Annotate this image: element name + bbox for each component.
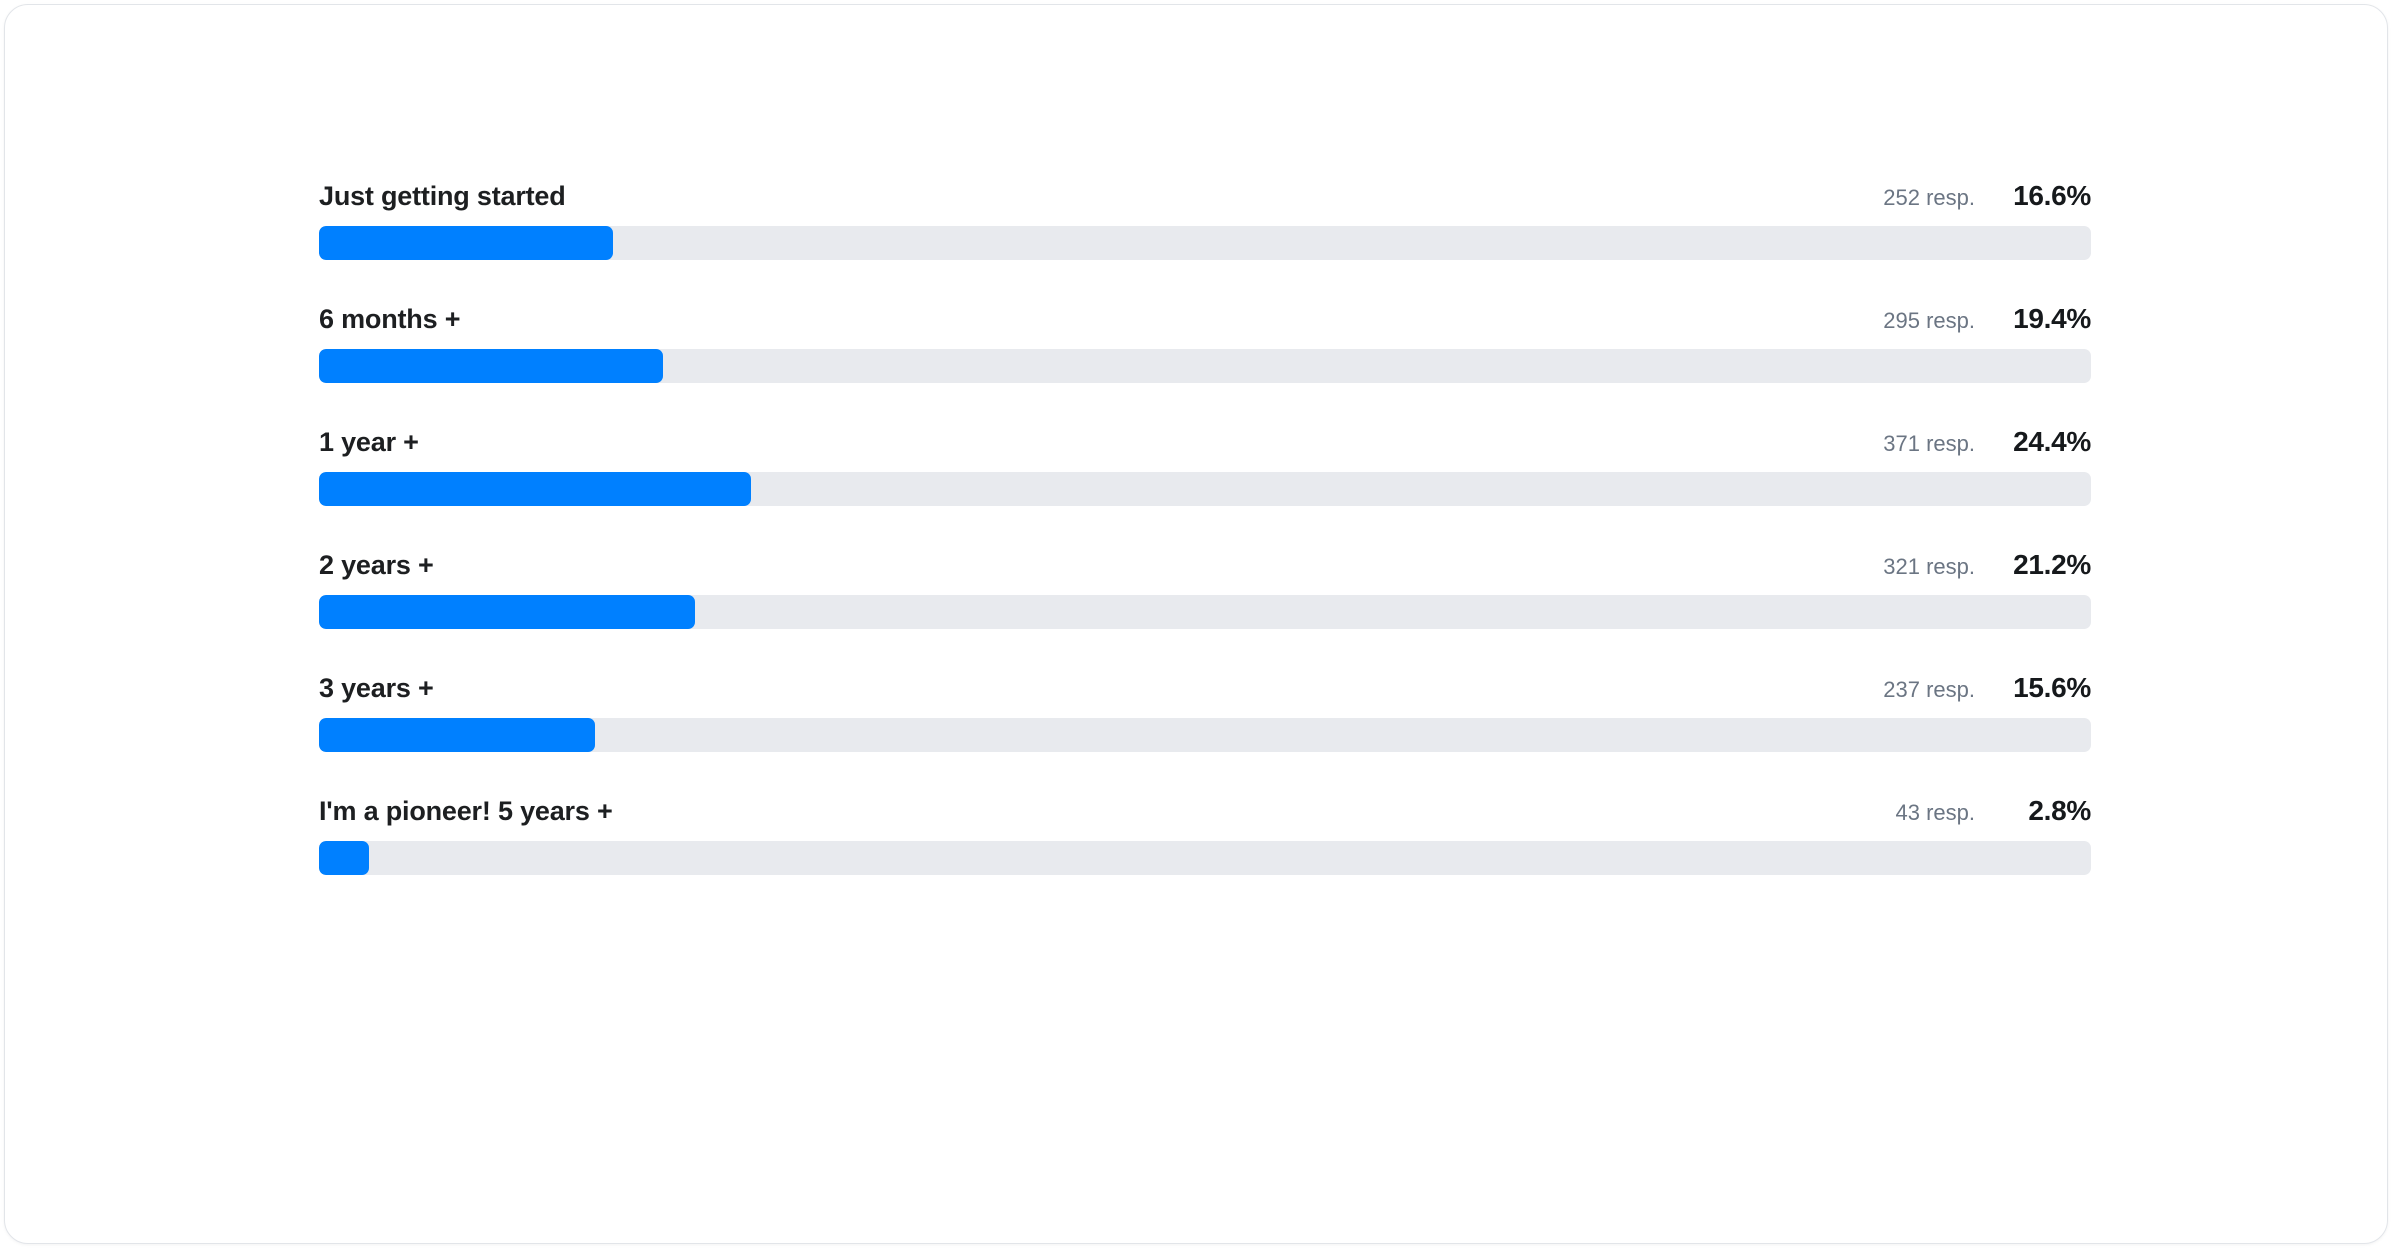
- survey-result-row: 3 years + 237 resp. 15.6%: [319, 669, 2091, 752]
- survey-results-list: Just getting started 252 resp. 16.6% 6 m…: [319, 177, 2091, 875]
- percent-value: 16.6%: [1975, 177, 2091, 215]
- result-row-metrics: 371 resp. 24.4%: [1883, 423, 2091, 463]
- survey-result-row: 1 year + 371 resp. 24.4%: [319, 423, 2091, 506]
- bar-track: [319, 226, 2091, 260]
- bar-fill: [319, 349, 663, 383]
- bar-fill: [319, 841, 369, 875]
- result-row-header: I'm a pioneer! 5 years + 43 resp. 2.8%: [319, 792, 2091, 830]
- bar-track: [319, 718, 2091, 752]
- result-row-metrics: 43 resp. 2.8%: [1896, 792, 2092, 832]
- response-count: 295 resp.: [1883, 302, 1975, 340]
- option-label: 3 years +: [319, 669, 434, 707]
- result-row-header: 2 years + 321 resp. 21.2%: [319, 546, 2091, 584]
- bar-fill: [319, 718, 595, 752]
- response-count: 43 resp.: [1896, 794, 1976, 832]
- survey-result-row: 6 months + 295 resp. 19.4%: [319, 300, 2091, 383]
- percent-value: 19.4%: [1975, 300, 2091, 338]
- option-label: Just getting started: [319, 177, 566, 215]
- percent-value: 21.2%: [1975, 546, 2091, 584]
- bar-track: [319, 841, 2091, 875]
- result-row-metrics: 321 resp. 21.2%: [1883, 546, 2091, 586]
- result-row-header: 6 months + 295 resp. 19.4%: [319, 300, 2091, 338]
- result-row-metrics: 252 resp. 16.6%: [1883, 177, 2091, 217]
- percent-value: 2.8%: [1975, 792, 2091, 830]
- option-label: 2 years +: [319, 546, 434, 584]
- response-count: 321 resp.: [1883, 548, 1975, 586]
- result-row-header: 3 years + 237 resp. 15.6%: [319, 669, 2091, 707]
- bar-fill: [319, 472, 751, 506]
- survey-result-row: Just getting started 252 resp. 16.6%: [319, 177, 2091, 260]
- result-row-metrics: 295 resp. 19.4%: [1883, 300, 2091, 340]
- response-count: 371 resp.: [1883, 425, 1975, 463]
- survey-result-row: 2 years + 321 resp. 21.2%: [319, 546, 2091, 629]
- option-label: I'm a pioneer! 5 years +: [319, 792, 613, 830]
- survey-result-row: I'm a pioneer! 5 years + 43 resp. 2.8%: [319, 792, 2091, 875]
- bar-track: [319, 595, 2091, 629]
- result-row-header: Just getting started 252 resp. 16.6%: [319, 177, 2091, 215]
- response-count: 237 resp.: [1883, 671, 1975, 709]
- response-count: 252 resp.: [1883, 179, 1975, 217]
- option-label: 6 months +: [319, 300, 460, 338]
- survey-results-card: Just getting started 252 resp. 16.6% 6 m…: [4, 4, 2388, 1244]
- option-label: 1 year +: [319, 423, 419, 461]
- bar-fill: [319, 226, 613, 260]
- bar-fill: [319, 595, 695, 629]
- bar-track: [319, 472, 2091, 506]
- result-row-metrics: 237 resp. 15.6%: [1883, 669, 2091, 709]
- percent-value: 15.6%: [1975, 669, 2091, 707]
- result-row-header: 1 year + 371 resp. 24.4%: [319, 423, 2091, 461]
- percent-value: 24.4%: [1975, 423, 2091, 461]
- bar-track: [319, 349, 2091, 383]
